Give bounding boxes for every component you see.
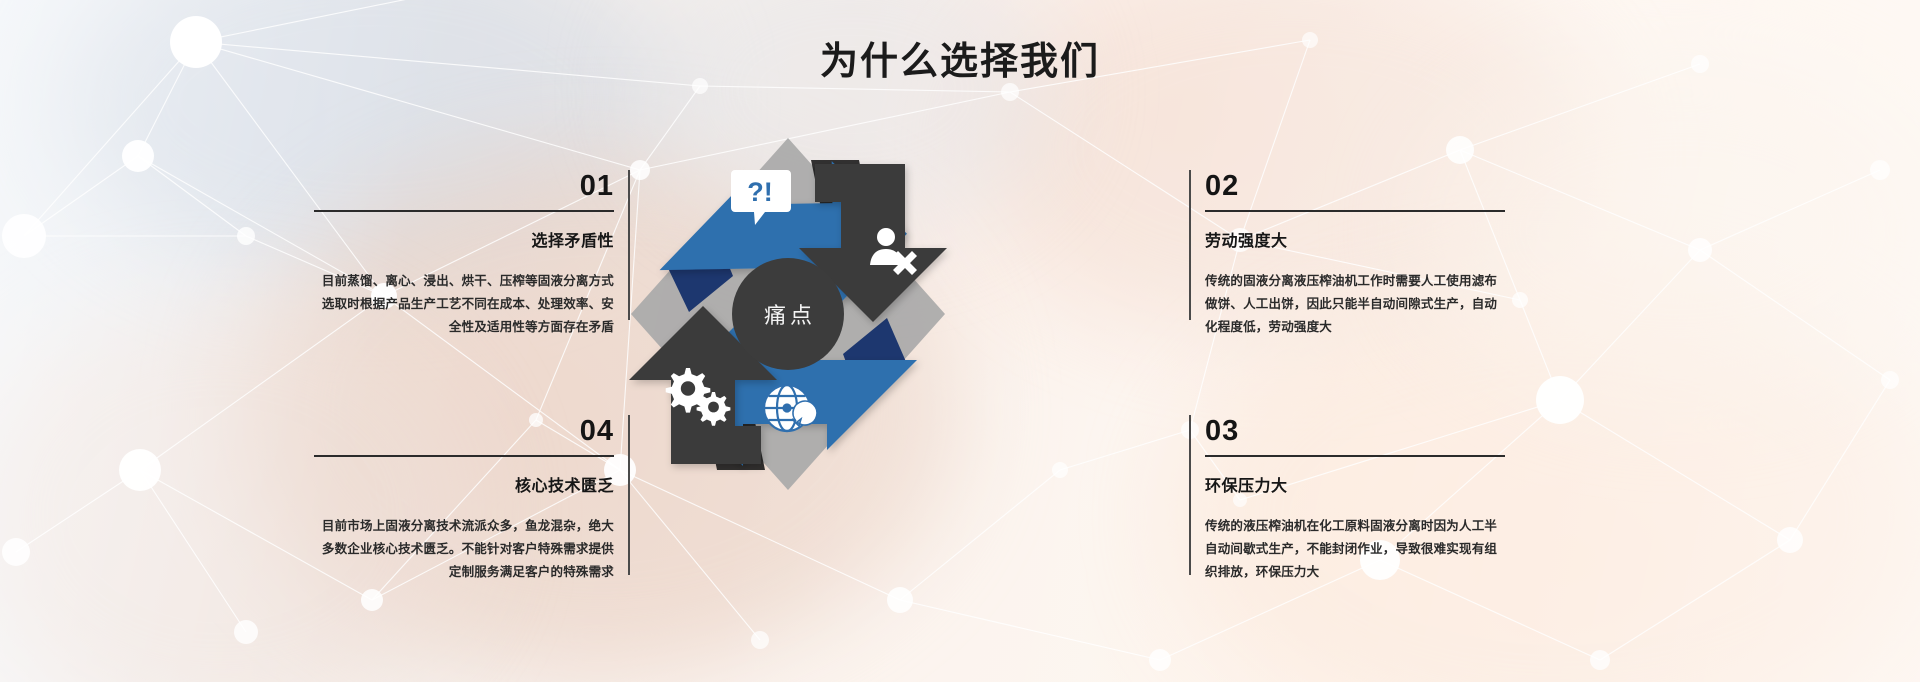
item-divider	[314, 210, 614, 212]
cycle-diagram: ?!	[615, 116, 961, 512]
item-number: 04	[314, 415, 614, 447]
page-title: 为什么选择我们	[0, 38, 1920, 86]
item-subtitle: 劳动强度大	[1205, 231, 1505, 253]
item-divider	[1205, 210, 1505, 212]
item-body: 目前蒸馏、离心、浸出、烘干、压榨等固液分离方式选取时根据产品生产工艺不同在成本、…	[314, 270, 614, 339]
item-divider	[314, 455, 614, 457]
pain-point-item-04: 04 核心技术匮乏 目前市场上固液分离技术流派众多，鱼龙混杂，绝大多数企业核心技…	[314, 415, 630, 575]
item-subtitle: 核心技术匮乏	[314, 476, 614, 498]
pain-point-item-03: 03 环保压力大 传统的液压榨油机在化工原料固液分离时因为人工半自动间歇式生产，…	[1189, 415, 1505, 575]
item-body: 传统的液压榨油机在化工原料固液分离时因为人工半自动间歇式生产，不能封闭作业，导致…	[1205, 515, 1505, 584]
item-subtitle: 环保压力大	[1205, 476, 1505, 498]
item-number: 03	[1205, 415, 1505, 447]
pain-point-item-02: 02 劳动强度大 传统的固液分离液压榨油机工作时需要人工使用滤布做饼、人工出饼，…	[1189, 170, 1505, 320]
pain-point-item-01: 01 选择矛盾性 目前蒸馏、离心、浸出、烘干、压榨等固液分离方式选取时根据产品生…	[314, 170, 630, 320]
item-body: 目前市场上固液分离技术流派众多，鱼龙混杂，绝大多数企业核心技术匮乏。不能针对客户…	[314, 515, 614, 584]
item-subtitle: 选择矛盾性	[314, 231, 614, 253]
center-circle	[732, 258, 844, 370]
svg-text:?!: ?!	[747, 177, 772, 207]
slide-root: 为什么选择我们 01 选择矛盾性 目前蒸馏、离心、浸出、烘干、压榨等固液分离方式…	[0, 0, 1920, 682]
item-number: 02	[1205, 170, 1505, 202]
item-number: 01	[314, 170, 614, 202]
item-body: 传统的固液分离液压榨油机工作时需要人工使用滤布做饼、人工出饼，因此只能半自动间隙…	[1205, 270, 1505, 339]
item-divider	[1205, 455, 1505, 457]
